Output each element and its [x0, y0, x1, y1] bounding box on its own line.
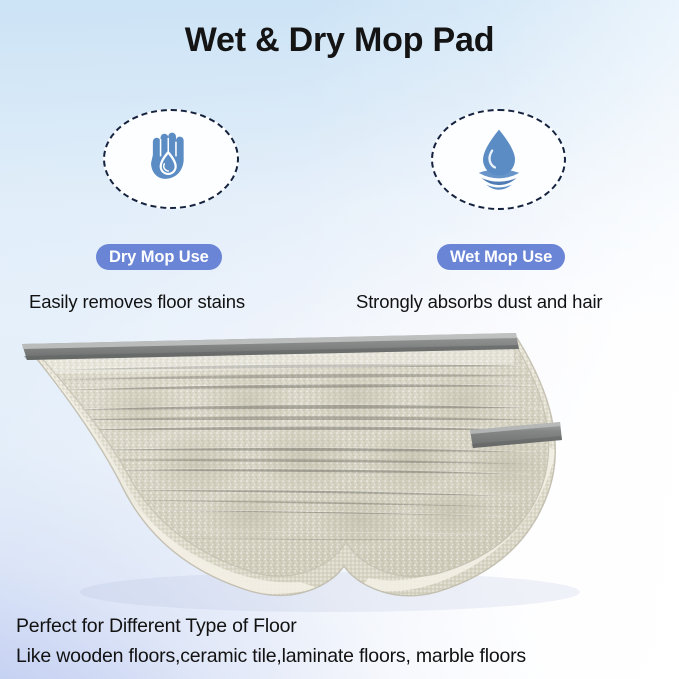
hand-with-water-drop-icon [103, 109, 239, 209]
page-title: Wet & Dry Mop Pad [0, 17, 679, 63]
water-drop-with-ripples-icon [431, 109, 566, 210]
badge-wet-mop-use: Wet Mop Use [437, 244, 565, 270]
product-infographic: Wet & Dry Mop Pad Dry Mop Use Easily rem… [0, 0, 679, 679]
footer-line-1: Perfect for Different Type of Floor [16, 615, 297, 638]
mop-pad-photo [0, 330, 679, 615]
feature-caption-dry: Easily removes floor stains [29, 291, 245, 313]
badge-dry-mop-use: Dry Mop Use [96, 244, 222, 270]
feature-caption-wet: Strongly absorbs dust and hair [356, 291, 602, 313]
footer-line-2: Like wooden floors,ceramic tile,laminate… [16, 645, 526, 668]
